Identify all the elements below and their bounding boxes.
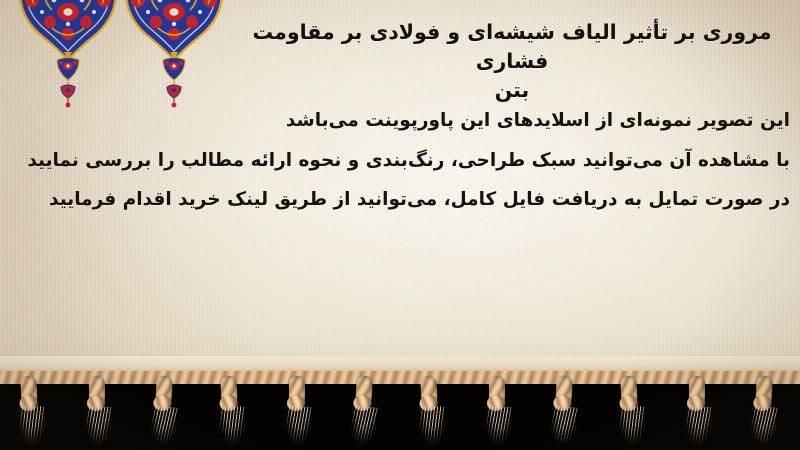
fringe-tassel xyxy=(349,375,379,446)
fringe-tassel xyxy=(16,375,46,446)
fringe-tassel xyxy=(285,376,311,446)
fringe-tassel xyxy=(685,376,711,446)
fringe-tassel xyxy=(749,375,779,446)
tassel-strands xyxy=(18,406,45,448)
slide-title: مروری بر تأثیر الیاف شیشه‌ای و فولادی بر… xyxy=(232,18,792,105)
fringe-tassel xyxy=(416,375,446,446)
fringe-tassel xyxy=(549,375,579,446)
presentation-slide: مروری بر تأثیر الیاف شیشه‌ای و فولادی بر… xyxy=(0,0,800,450)
tassel-strands xyxy=(748,405,779,450)
body-line-3: در صورت تمایل به دریافت فایل کامل، می‌تو… xyxy=(10,191,790,210)
tassel-strands xyxy=(284,405,313,449)
tassel-strands xyxy=(548,405,579,450)
carpet-fringe-tassels xyxy=(0,356,800,450)
tassel-strands xyxy=(148,405,179,450)
tassel-strands xyxy=(484,405,513,449)
fringe-tassel xyxy=(85,376,111,446)
fringe-cord xyxy=(0,371,800,384)
fringe-tassel xyxy=(216,375,246,446)
tassel-strands xyxy=(618,406,645,448)
tassel-strands xyxy=(684,405,713,449)
tassel-strands xyxy=(84,405,113,449)
slide-title-line-1: مروری بر تأثیر الیاف شیشه‌ای و فولادی بر… xyxy=(252,20,771,73)
slide-title-line-2: بتن xyxy=(495,78,530,102)
slide-body: این تصویر نمونه‌ای از اسلایدهای این پاور… xyxy=(10,112,790,231)
fringe-tassel xyxy=(485,376,511,446)
tassel-strands xyxy=(348,405,379,450)
tassel-strands xyxy=(418,406,445,448)
tassel-strands xyxy=(218,406,245,448)
fringe-tassel xyxy=(616,375,646,446)
body-line-1: این تصویر نمونه‌ای از اسلایدهای این پاور… xyxy=(10,112,790,131)
fringe-tassel xyxy=(149,375,179,446)
body-line-2: با مشاهده آن می‌توانید سبک طراحی، رنگ‌بن… xyxy=(10,152,790,171)
